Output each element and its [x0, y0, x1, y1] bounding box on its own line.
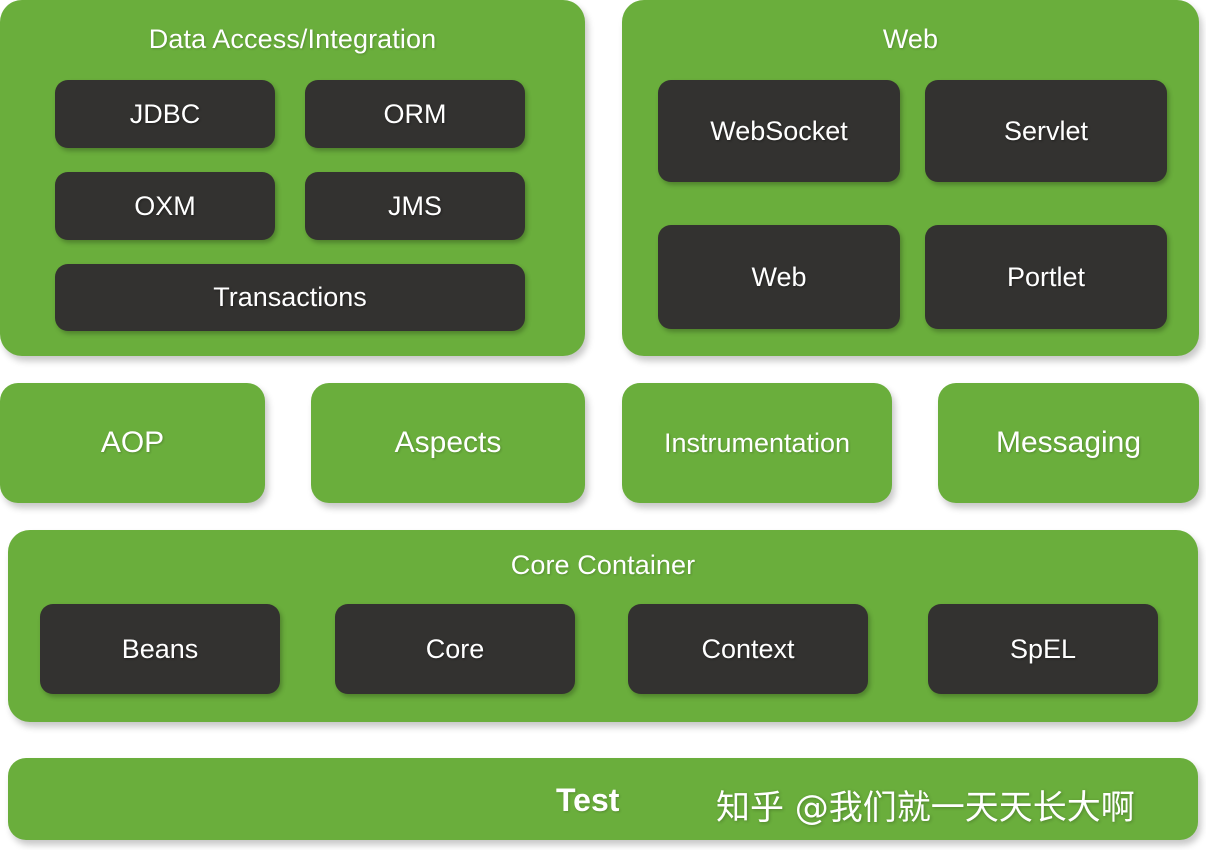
module-label-jdbc: JDBC	[130, 99, 201, 130]
panel-title-data-access: Data Access/Integration	[0, 24, 585, 55]
spring-architecture-diagram: Data Access/Integration JDBC ORM OXM JMS…	[0, 0, 1206, 850]
module-label-jms: JMS	[388, 191, 442, 222]
module-core[interactable]: Core	[335, 604, 575, 694]
module-label-spel: SpEL	[1010, 634, 1076, 665]
pill-label-aspects: Aspects	[395, 426, 502, 460]
module-websocket[interactable]: WebSocket	[658, 80, 900, 182]
module-beans[interactable]: Beans	[40, 604, 280, 694]
watermark-text: 知乎 @我们就一天天长大啊	[716, 780, 1135, 829]
pill-label-aop: AOP	[101, 426, 164, 460]
panel-web: Web WebSocket Servlet Web Portlet	[622, 0, 1199, 356]
module-jdbc[interactable]: JDBC	[55, 80, 275, 148]
module-label-beans: Beans	[122, 634, 199, 665]
module-oxm[interactable]: OXM	[55, 172, 275, 240]
panel-core-container: Core Container Beans Core Context SpEL	[8, 530, 1198, 722]
module-jms[interactable]: JMS	[305, 172, 525, 240]
pill-label-instrumentation: Instrumentation	[664, 428, 850, 459]
module-label-portlet: Portlet	[1007, 262, 1085, 293]
module-portlet[interactable]: Portlet	[925, 225, 1167, 329]
pill-instrumentation[interactable]: Instrumentation	[622, 383, 892, 503]
module-label-context: Context	[701, 634, 794, 665]
pill-aop[interactable]: AOP	[0, 383, 265, 503]
module-context[interactable]: Context	[628, 604, 868, 694]
test-label: Test	[556, 782, 619, 819]
module-label-oxm: OXM	[134, 191, 196, 222]
pill-label-messaging: Messaging	[996, 426, 1141, 460]
module-orm[interactable]: ORM	[305, 80, 525, 148]
module-transactions[interactable]: Transactions	[55, 264, 525, 331]
module-label-transactions: Transactions	[213, 282, 367, 313]
module-web[interactable]: Web	[658, 225, 900, 329]
panel-title-web: Web	[622, 24, 1199, 55]
module-servlet[interactable]: Servlet	[925, 80, 1167, 182]
module-label-web: Web	[751, 262, 806, 293]
module-label-websocket: WebSocket	[710, 116, 848, 147]
module-spel[interactable]: SpEL	[928, 604, 1158, 694]
pill-aspects[interactable]: Aspects	[311, 383, 585, 503]
panel-data-access-integration: Data Access/Integration JDBC ORM OXM JMS…	[0, 0, 585, 356]
module-label-core: Core	[426, 634, 485, 665]
module-label-servlet: Servlet	[1004, 116, 1088, 147]
module-label-orm: ORM	[384, 99, 447, 130]
panel-title-core-container: Core Container	[8, 550, 1198, 581]
pill-messaging[interactable]: Messaging	[938, 383, 1199, 503]
